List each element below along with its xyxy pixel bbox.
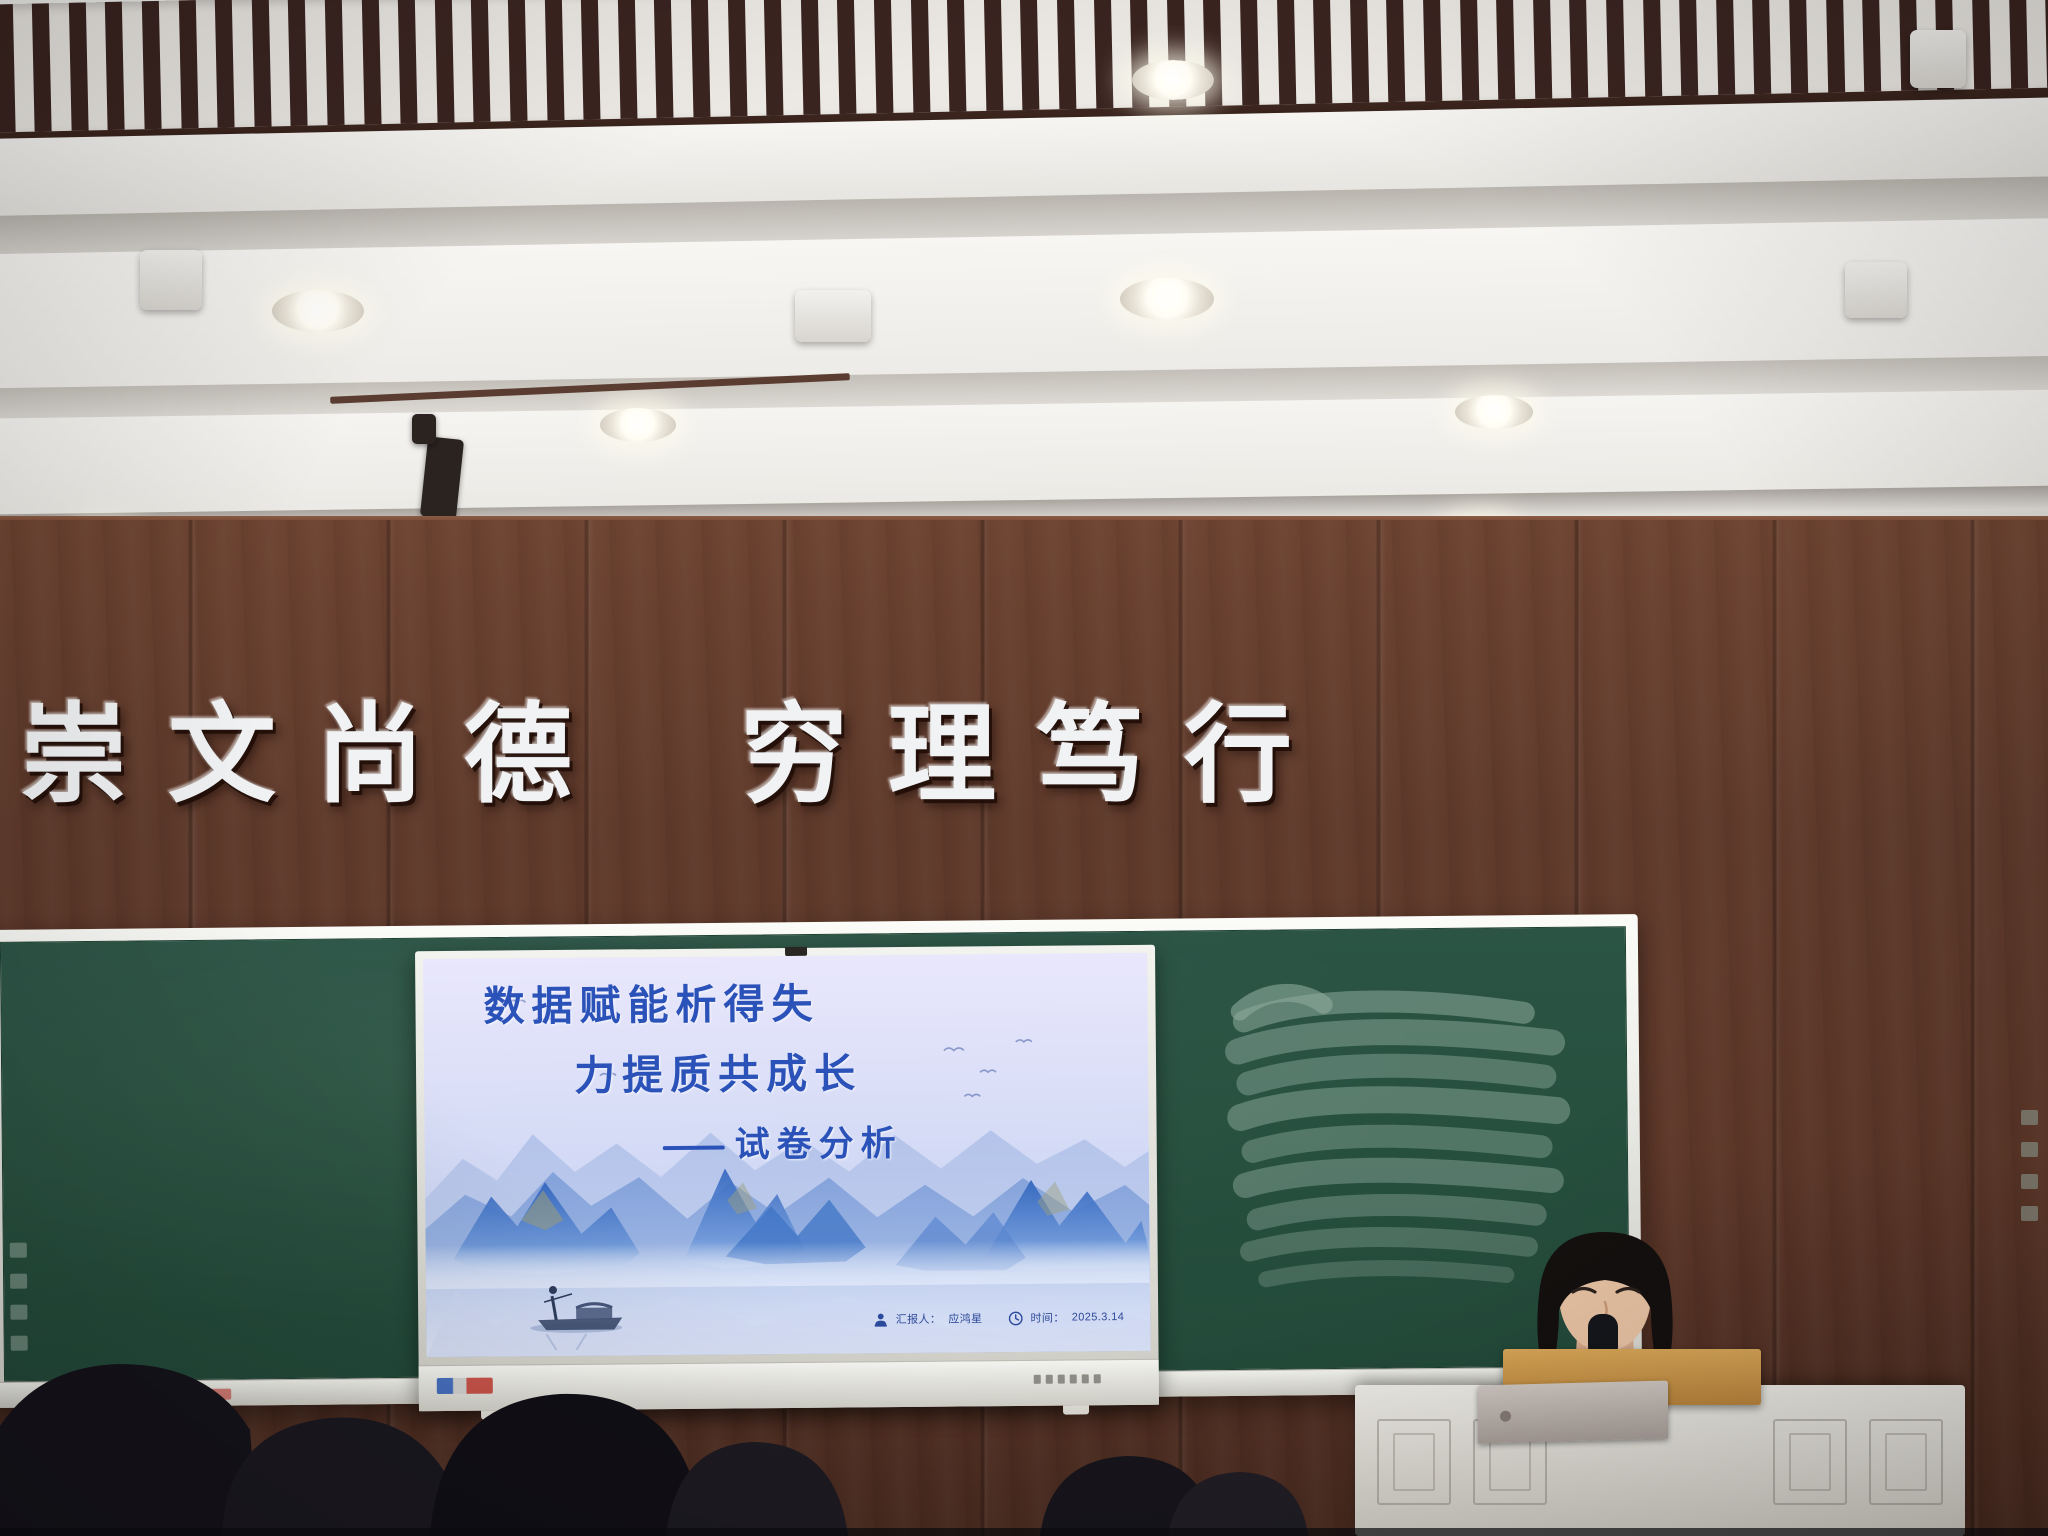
ceiling-slat — [251, 0, 271, 133]
slide-title-line-2: 力提质共成长 — [424, 1037, 1148, 1103]
ceiling — [0, 0, 2048, 560]
motto-char: 理 — [868, 701, 1016, 809]
ceiling-slat — [1386, 0, 1406, 114]
blackboard-marker — [2021, 1174, 2038, 1189]
motto-char: 文 — [148, 701, 296, 809]
ceiling-slat — [837, 0, 857, 126]
ceiling-slat — [873, 0, 893, 125]
blackboard-marker — [10, 1243, 27, 1258]
ceiling-slat — [1495, 0, 1515, 112]
ceiling-slat — [1130, 0, 1150, 120]
wall-motto: 崇 文 尚 德 穷 理 笃 行 — [0, 690, 1560, 820]
ceiling-slat — [1020, 0, 1040, 122]
ceiling-slat — [471, 0, 491, 133]
ceiling-downlight — [1132, 60, 1214, 100]
ceiling-slat — [434, 0, 454, 133]
ceiling-slat — [690, 0, 710, 129]
ceiling-slat — [1752, 0, 1772, 106]
ceiling-slat — [654, 0, 674, 130]
ceiling-slat — [361, 0, 381, 133]
ceiling-slat — [178, 0, 198, 133]
slide-subtitle: 试卷分析 — [735, 1123, 903, 1165]
ceiling-speaker — [795, 290, 871, 342]
ceiling-slat — [544, 0, 564, 132]
ceiling-slat — [1569, 0, 1589, 110]
subtitle-dash-icon — [663, 1145, 725, 1150]
ceiling-slat — [1276, 0, 1296, 116]
blackboard-marker — [10, 1274, 27, 1289]
ceiling-slat — [1861, 0, 1881, 104]
ceiling-slat — [1715, 0, 1735, 107]
ceiling-slat — [1093, 0, 1113, 120]
ceiling-slat — [142, 0, 162, 133]
motto-char: 德 — [444, 701, 592, 809]
ceiling-slat — [325, 0, 345, 133]
ceiling-speaker — [1845, 262, 1907, 318]
ceiling-slat — [983, 0, 1003, 123]
ceiling-slat — [1239, 0, 1259, 117]
ceiling-slat — [1678, 0, 1698, 108]
ceiling-slat — [68, 0, 88, 133]
ceiling-downlight — [600, 408, 676, 442]
ceiling-slat — [1605, 0, 1625, 109]
ceiling-downlight — [1455, 395, 1533, 429]
ceiling-slat — [800, 0, 820, 127]
motto-char: 穷 — [720, 701, 868, 809]
ceiling-slat — [1056, 0, 1076, 121]
slide-title-block: 数据赋能析得失 力提质共成长 试卷分析 — [423, 967, 1149, 1170]
ceiling-slat — [1349, 0, 1369, 115]
ceiling-slat — [1642, 0, 1662, 108]
lecture-hall-photo: 崇 文 尚 德 穷 理 笃 行 — [0, 0, 2048, 1536]
screen-top-sensor — [785, 947, 807, 956]
motto-phrase-one: 崇 文 尚 德 — [0, 701, 592, 809]
motto-char: 行 — [1164, 701, 1312, 809]
blackboard-marker — [2021, 1142, 2038, 1157]
ceiling-slat — [910, 0, 930, 124]
slide-title-line-1: 数据赋能析得失 — [423, 967, 1147, 1033]
ceiling-downlight — [1120, 278, 1214, 320]
ceiling-slat — [727, 0, 747, 128]
ceiling-speaker — [1910, 30, 1966, 88]
ceiling-slat — [617, 0, 637, 131]
motto-phrase-two: 穷 理 笃 行 — [720, 701, 1312, 809]
blackboard-marker — [2021, 1110, 2038, 1125]
audience-silhouettes — [0, 1306, 2048, 1536]
ceiling-slat — [1788, 0, 1808, 105]
blackboard-marker — [2021, 1206, 2038, 1221]
motto-char: 笃 — [1016, 701, 1164, 809]
ceiling-slat — [1825, 0, 1845, 104]
ceiling-slat — [1203, 0, 1223, 118]
ceiling-downlight — [272, 290, 364, 332]
ceiling-slat — [1459, 0, 1479, 112]
ceiling-slat — [288, 0, 308, 133]
slide-canvas[interactable]: 数据赋能析得失 力提质共成长 试卷分析 汇报人： 应鸿星 — [423, 953, 1150, 1357]
ceiling-slat — [105, 0, 125, 133]
ceiling-slat — [0, 0, 15, 133]
ceiling-slat — [2044, 0, 2048, 100]
ceiling-slat — [215, 0, 235, 133]
motto-char: 尚 — [296, 701, 444, 809]
motto-char: 崇 — [0, 701, 148, 809]
ceiling-slat — [581, 0, 601, 132]
ceiling-slat — [508, 0, 528, 133]
camera-mount — [412, 414, 436, 444]
ceiling-slat — [2008, 0, 2028, 101]
blackboard-right-markers — [2021, 1110, 2038, 1221]
ceiling-slat — [1971, 0, 1991, 101]
ceiling-slat — [764, 0, 784, 128]
slide-subtitle-row: 试卷分析 — [424, 1113, 1148, 1170]
ceiling-slat — [398, 0, 418, 133]
ceiling-slat — [32, 0, 52, 133]
ceiling-slat — [1313, 0, 1333, 116]
ceiling-speaker — [140, 250, 202, 310]
ceiling-slat — [947, 0, 967, 124]
ceiling-slat — [1422, 0, 1442, 113]
ceiling-slat — [1532, 0, 1552, 111]
